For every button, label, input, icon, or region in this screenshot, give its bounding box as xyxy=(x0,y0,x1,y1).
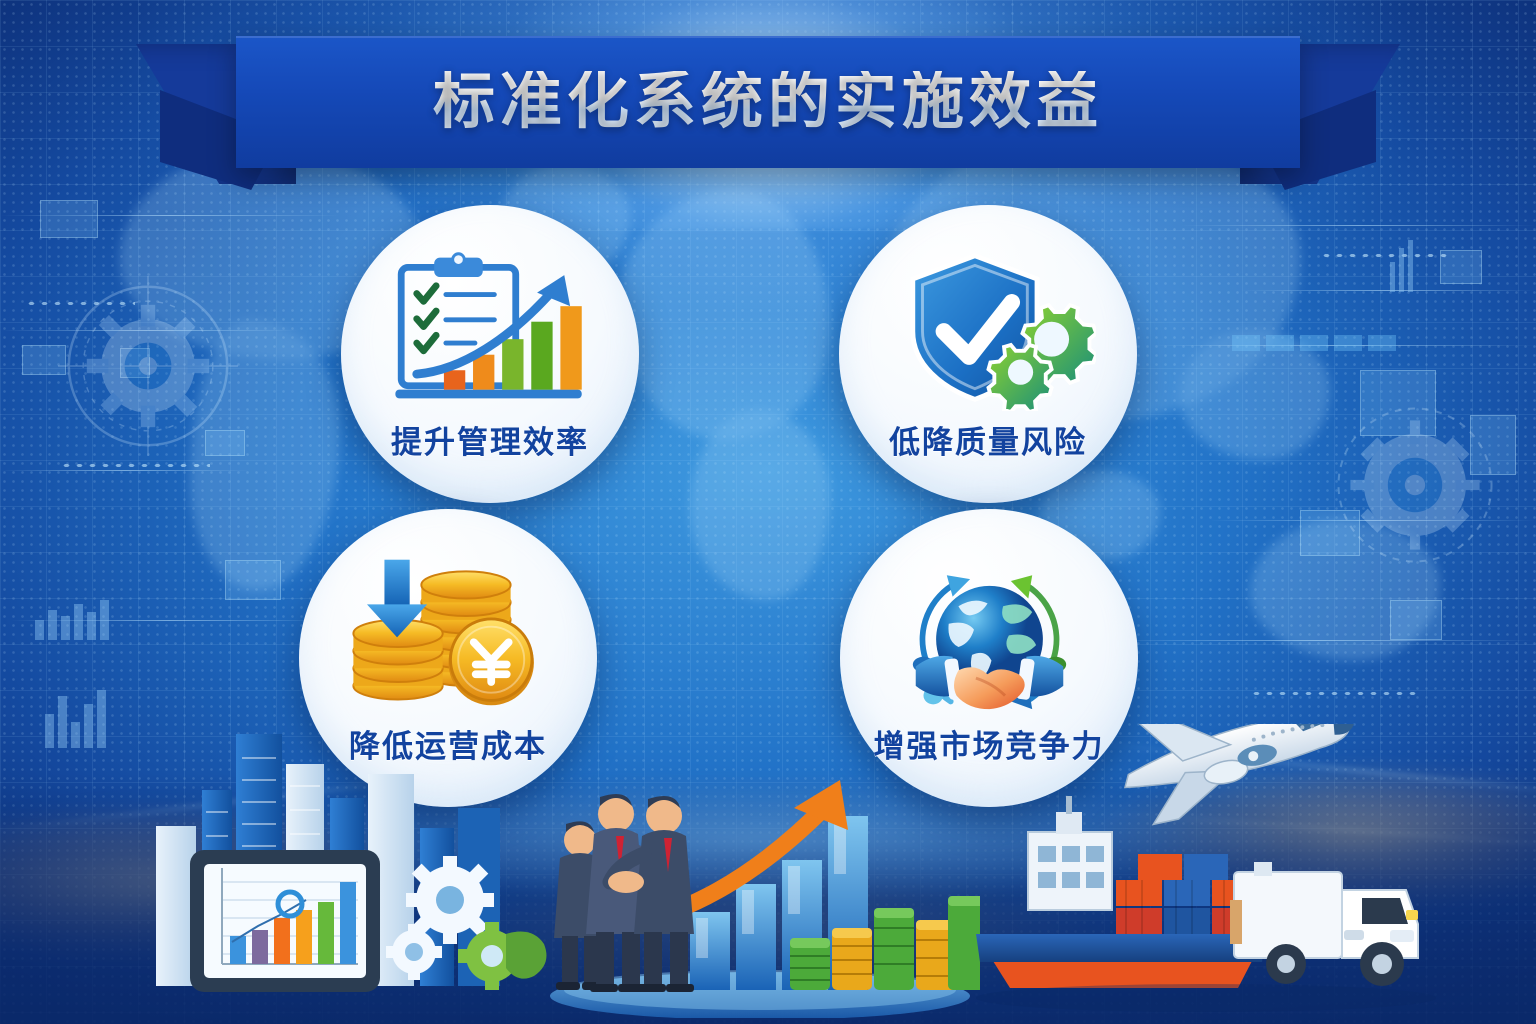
benefit-card-label: 低降质量风险 xyxy=(889,417,1087,462)
benefit-card-efficiency[interactable]: 提升管理效率 xyxy=(341,205,639,503)
airplane-icon xyxy=(1112,724,1367,829)
title-banner: 标准化系统的实施效益 xyxy=(0,36,1536,196)
cargo-ship-icon xyxy=(976,796,1266,988)
city-skyline-tablet-gears-group xyxy=(150,728,570,1008)
clipboard-growth-chart-icon xyxy=(383,246,598,411)
shield-check-gears-icon xyxy=(881,246,1096,411)
coins-down-arrow-icon xyxy=(341,550,556,715)
globe-handshake-cycle-icon xyxy=(882,550,1097,715)
background-gear-right-icon xyxy=(1330,400,1500,570)
infographic-canvas: 标准化系统的实施效益 提 xyxy=(0,0,1536,1024)
logistics-transport-group xyxy=(966,724,1436,1014)
benefit-card-label: 提升管理效率 xyxy=(391,417,589,462)
bottom-illustration-scene xyxy=(0,724,1536,1024)
ribbon-plate: 标准化系统的实施效益 xyxy=(236,36,1300,168)
tablet-dashboard xyxy=(190,850,380,992)
businessmen-growth-group xyxy=(540,768,980,1018)
page-title: 标准化系统的实施效益 xyxy=(433,71,1103,133)
delivery-truck-icon xyxy=(1230,862,1418,986)
background-gear-left-icon xyxy=(58,276,238,456)
benefit-card-quality-risk[interactable]: 低降质量风险 xyxy=(839,205,1137,503)
